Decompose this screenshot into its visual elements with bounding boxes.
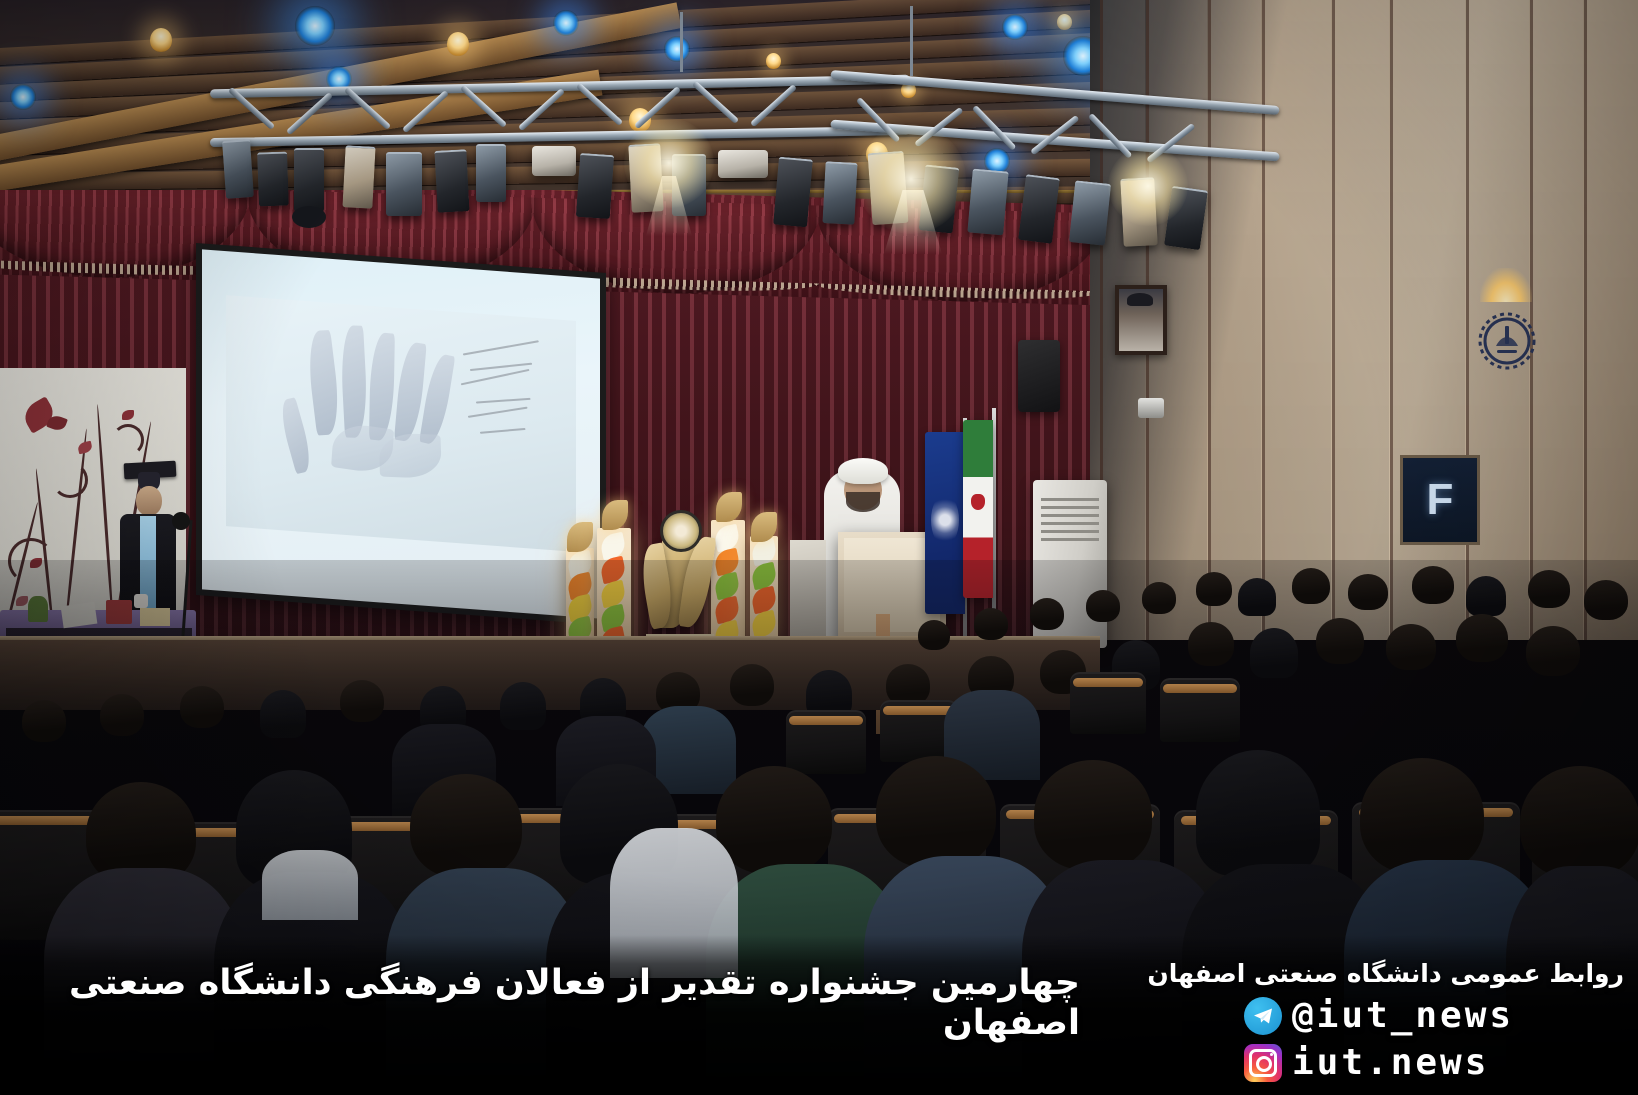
audience-head xyxy=(100,694,144,736)
audience-head xyxy=(1386,624,1436,670)
stage-light xyxy=(386,152,422,216)
audience-torso xyxy=(1506,866,1638,1095)
blue-led-light xyxy=(1002,14,1028,40)
wall-sconce-light xyxy=(1480,268,1532,302)
audience-head xyxy=(1348,574,1388,610)
framed-portrait xyxy=(1115,285,1167,355)
audience-head xyxy=(1086,590,1120,622)
stage-light xyxy=(1069,180,1111,245)
video-projector xyxy=(532,146,576,176)
ceiling-lamp xyxy=(447,32,469,56)
audience-head xyxy=(180,686,224,728)
audience-head xyxy=(918,620,950,650)
stage-light xyxy=(294,148,324,212)
stage-light-lens xyxy=(292,206,326,228)
slide-calligraphy xyxy=(457,345,562,459)
auditorium-seat xyxy=(1160,678,1240,742)
iut-gear-logo xyxy=(1476,310,1538,372)
blue-led-light xyxy=(295,6,335,46)
audience-torso-light xyxy=(262,850,358,920)
audience-head xyxy=(1456,614,1508,662)
audience-head xyxy=(340,680,384,722)
iut-flag-emblem xyxy=(931,494,959,546)
audience-head xyxy=(260,690,306,738)
blue-led-light xyxy=(553,10,579,36)
audience-torso-light xyxy=(610,828,738,978)
photograph: F xyxy=(0,0,1638,1095)
audience-head xyxy=(1196,750,1320,876)
audience-head xyxy=(410,774,522,878)
auditorium-seat xyxy=(1070,672,1146,734)
audience-head xyxy=(1250,628,1298,678)
audience-head xyxy=(1196,572,1232,606)
audience-head xyxy=(1034,760,1152,870)
audience-head xyxy=(1528,570,1570,608)
audience-head xyxy=(1466,576,1506,616)
audience-head xyxy=(1030,598,1064,630)
audience-head xyxy=(1238,578,1276,616)
iran-flag-emblem xyxy=(971,494,985,510)
audience-head xyxy=(1412,566,1454,604)
audience-head xyxy=(22,700,66,742)
stage-light xyxy=(773,157,813,228)
stage-light xyxy=(476,144,506,202)
video-projector xyxy=(718,150,768,178)
security-camera xyxy=(1138,398,1164,418)
audience-head xyxy=(1360,758,1484,874)
stage-light xyxy=(222,139,254,199)
hall-letter-text: F xyxy=(1427,478,1454,522)
stage-light xyxy=(434,149,469,213)
ceiling-lamp xyxy=(1057,14,1072,30)
auditorium-seat xyxy=(786,710,866,774)
stage-light xyxy=(822,161,857,225)
audience-head xyxy=(1584,580,1628,620)
lighting-truss xyxy=(210,58,1270,233)
audience-head xyxy=(730,664,774,706)
audience-head xyxy=(1526,626,1580,676)
stage-light xyxy=(576,153,614,219)
blue-led-light xyxy=(10,84,36,110)
ceiling-lamp xyxy=(150,28,172,52)
speaker-beard xyxy=(846,492,880,512)
audience-head xyxy=(1316,618,1364,664)
stage-light xyxy=(257,151,289,206)
audience-head xyxy=(1188,622,1234,666)
stage-light xyxy=(342,145,375,208)
wall-speaker xyxy=(1018,340,1060,412)
audience-head xyxy=(716,766,832,874)
audience xyxy=(0,560,1638,1095)
audience-head xyxy=(1292,568,1330,604)
slide-image xyxy=(226,295,576,552)
microphone-head xyxy=(172,512,190,530)
hall-letter-sign: F xyxy=(1400,455,1480,545)
audience-head xyxy=(974,608,1008,640)
audience-head xyxy=(1520,766,1638,878)
audience-head xyxy=(500,682,546,730)
speaker-turban xyxy=(838,458,888,484)
stage-light xyxy=(967,169,1008,236)
audience-head xyxy=(876,756,996,868)
audience-head xyxy=(1142,582,1176,614)
